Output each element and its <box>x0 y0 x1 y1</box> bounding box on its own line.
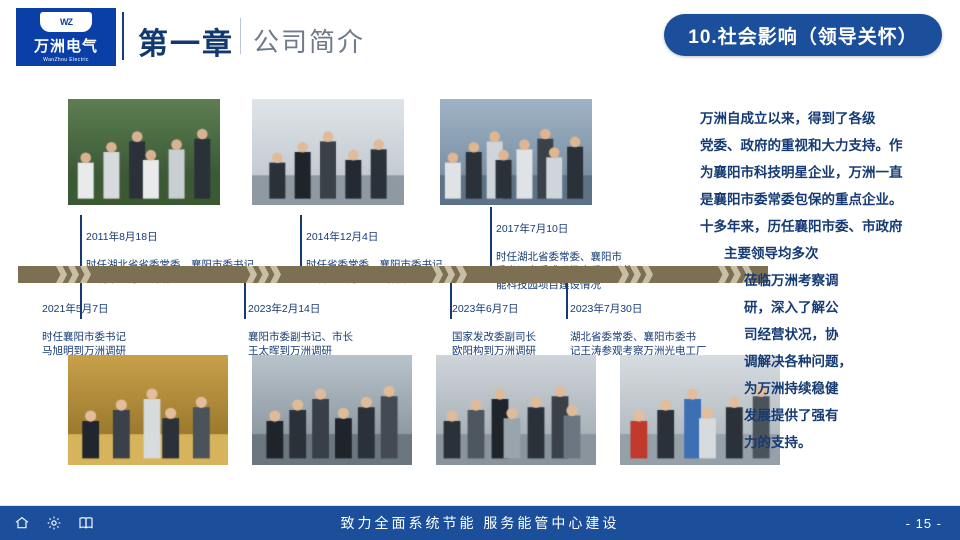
caption-date: 2017年7月10日 <box>496 222 692 236</box>
caption-date: 2021年5月7日 <box>42 302 212 316</box>
timeline-chevron-icon <box>456 266 467 283</box>
body-line: 主要领导均多次 <box>700 240 948 267</box>
caption-date: 2011年8月18日 <box>86 230 276 244</box>
photo-2011 <box>68 99 220 205</box>
body-line: 为万洲持续稳健 <box>700 375 948 402</box>
caption-text: 襄阳市委副书记、市长 王太晖到万洲调研 <box>248 330 428 358</box>
photo-2023-jun <box>436 355 596 465</box>
logo-cn-name: 万洲电气 <box>34 35 98 56</box>
section-title-badge: 10.社会影响（领导关怀） <box>664 14 942 56</box>
company-logo: WZ 万洲电气 WanZhou Electric <box>16 8 116 66</box>
body-line: 党委、政府的重视和大力支持。作 <box>700 132 948 159</box>
body-line: 发展提供了强有 <box>700 402 948 429</box>
body-line: 为襄阳市科技明星企业，万洲一直 <box>700 159 948 186</box>
timeline-chevron-icon <box>56 266 67 283</box>
body-line: 莅临万洲考察调 <box>700 267 948 294</box>
body-line: 调解决各种问题， <box>700 348 948 375</box>
chapter-title: 第一章 <box>138 19 234 63</box>
footer-slogan: 致力全面系统节能 服务能管中心建设 <box>0 506 960 540</box>
body-line: 研，深入了解公 <box>700 294 948 321</box>
body-line: 万洲自成立以来，得到了各级 <box>700 105 948 132</box>
body-line: 十多年来，历任襄阳市委、市政府 <box>700 213 948 240</box>
body-line: 力的支持。 <box>700 429 948 456</box>
caption-text: 时任襄阳市委书记 马旭明到万洲调研 <box>42 330 212 358</box>
timeline-chevron-icon <box>246 266 257 283</box>
footer: 致力全面系统节能 服务能管中心建设 - 15 - <box>0 506 960 540</box>
caption-connector-5 <box>244 283 246 319</box>
timeline-chevron-icon <box>68 266 79 283</box>
logo-en-name: WanZhou Electric <box>43 57 89 63</box>
timeline-chevron-icon <box>270 266 281 283</box>
chapter-subtitle: 公司简介 <box>253 22 365 59</box>
body-line: 司经营状况，协 <box>700 321 948 348</box>
timeline-chevron-icon <box>642 266 653 283</box>
photo-2014 <box>252 99 404 205</box>
caption-date: 2023年2月14日 <box>248 302 428 316</box>
slide: WZ 万洲电气 WanZhou Electric 第一章 公司简介 10.社会影… <box>0 0 960 540</box>
caption-date: 2014年12月4日 <box>306 230 496 244</box>
caption-connector-1 <box>80 215 82 270</box>
timeline-chevron-icon <box>80 266 91 283</box>
timeline-chevron-icon <box>618 266 629 283</box>
timeline-chevron-icon <box>630 266 641 283</box>
body-paragraph: 万洲自成立以来，得到了各级 党委、政府的重视和大力支持。作 为襄阳市科技明星企业… <box>700 105 948 456</box>
timeline-bar <box>18 266 768 283</box>
caption-connector-2 <box>300 215 302 270</box>
header-accent-bar <box>122 12 124 60</box>
photo-2017 <box>440 99 592 205</box>
timeline-chevron-icon <box>258 266 269 283</box>
timeline-chevron-icon <box>444 266 455 283</box>
logo-mark-icon: WZ <box>40 12 92 32</box>
timeline-chevron-icon <box>432 266 443 283</box>
page-number: - 15 - <box>906 506 942 540</box>
photo-2023-feb <box>252 355 412 465</box>
body-line: 是襄阳市委常委包保的重点企业。 <box>700 186 948 213</box>
photo-2021 <box>68 355 228 465</box>
chapter-separator <box>240 18 241 54</box>
